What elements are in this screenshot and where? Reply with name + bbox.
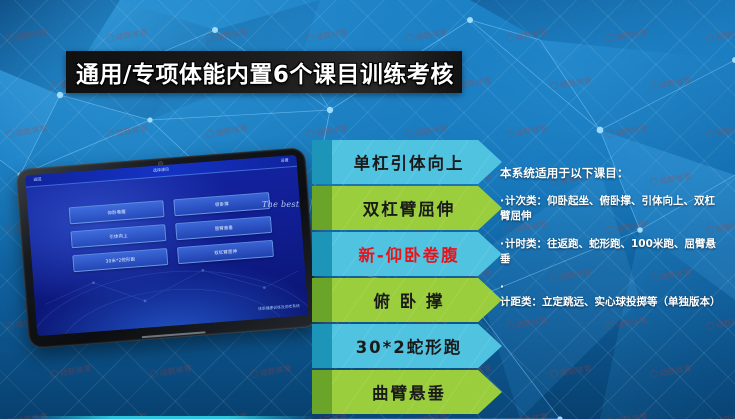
info-bullet-text: 计次类：仰卧起坐、俯卧撑、引体向上、双杠臂屈伸 xyxy=(500,195,715,222)
slide-title-bar: 通用/专项体能内置6个课目训练考核 xyxy=(66,51,462,93)
course-arrow-label: 新-仰卧卷腹 xyxy=(358,242,475,266)
page-title: 通用/专项体能内置6个课目训练考核 xyxy=(66,55,454,89)
course-arrow-tab xyxy=(312,140,334,184)
info-panel-heading: 本系统适用于以下课目： xyxy=(500,165,725,181)
bullet-icon: · xyxy=(500,281,504,293)
course-arrow-body: 新-仰卧卷腹 xyxy=(332,232,502,276)
tablet-bezel: 返回 选择课目 设置 仰卧卷腹 xyxy=(16,147,319,349)
course-arrow-item[interactable]: 曲臂悬垂 xyxy=(312,370,502,414)
course-arrow-item[interactable]: 单杠引体向上 xyxy=(312,140,502,184)
course-arrow-tab xyxy=(312,232,334,276)
course-arrow-tab xyxy=(312,186,334,230)
tablet-course-button[interactable]: 屈臂悬垂 xyxy=(176,216,273,240)
course-arrow-body: 俯 卧 撑 xyxy=(332,278,502,322)
tablet-course-button[interactable]: 引体向上 xyxy=(70,224,167,248)
course-arrow-item[interactable]: 30*2蛇形跑 xyxy=(312,324,502,368)
info-bullet-item: ·计次类：仰卧起坐、俯卧撑、引体向上、双杠臂屈伸 xyxy=(500,194,725,224)
course-arrow-tab xyxy=(312,370,334,414)
course-arrow-list: 单杠引体向上 双杠臂屈伸 新-仰卧卷腹 俯 卧 撑 xyxy=(312,140,502,416)
info-bullet-item: ·计时类：往返跑、蛇形跑、100米跑、屈臂悬垂 xyxy=(500,237,725,267)
course-arrow-label: 30*2蛇形跑 xyxy=(356,334,479,358)
info-bullet-text: 计时类：往返跑、蛇形跑、100米跑、屈臂悬垂 xyxy=(500,238,716,265)
info-bullet-item: ·计距类：立定跳远、实心球投掷等（单独版本） xyxy=(500,280,725,310)
course-arrow-body: 双杠臂屈伸 xyxy=(332,186,502,230)
bullet-icon: · xyxy=(500,195,504,207)
course-arrow-label: 俯 卧 撑 xyxy=(374,288,461,312)
tablet-device-mockup: 返回 选择课目 设置 仰卧卷腹 xyxy=(16,147,319,349)
course-arrow-tab xyxy=(312,324,334,368)
bullet-icon: · xyxy=(500,238,504,250)
course-arrow-label: 曲臂悬垂 xyxy=(372,380,462,404)
course-arrow-item[interactable]: 双杠臂屈伸 xyxy=(312,186,502,230)
course-arrow-label: 双杠臂屈伸 xyxy=(363,196,472,220)
info-bullet-text: 计距类：立定跳远、实心球投掷等（单独版本） xyxy=(500,296,721,308)
course-arrow-item[interactable]: 新-仰卧卷腹 xyxy=(312,232,502,276)
course-arrow-body: 30*2蛇形跑 xyxy=(332,324,502,368)
course-arrow-tab xyxy=(312,278,334,322)
slide-canvas: 动跃体育动跃体育动跃体育动跃体育动跃体育动跃体育动跃体育动跃体育动跃体育动跃体育… xyxy=(0,0,735,419)
course-arrow-label: 单杠引体向上 xyxy=(354,150,481,174)
course-arrow-item[interactable]: 俯 卧 撑 xyxy=(312,278,502,322)
course-arrow-body: 曲臂悬垂 xyxy=(332,370,502,414)
tagline-text: The best xyxy=(262,200,299,209)
info-panel: 本系统适用于以下课目： ·计次类：仰卧起坐、俯卧撑、引体向上、双杠臂屈伸 ·计时… xyxy=(500,165,725,322)
course-arrow-body: 单杠引体向上 xyxy=(332,140,502,184)
tablet-screen: 返回 选择课目 设置 仰卧卷腹 xyxy=(25,155,309,336)
